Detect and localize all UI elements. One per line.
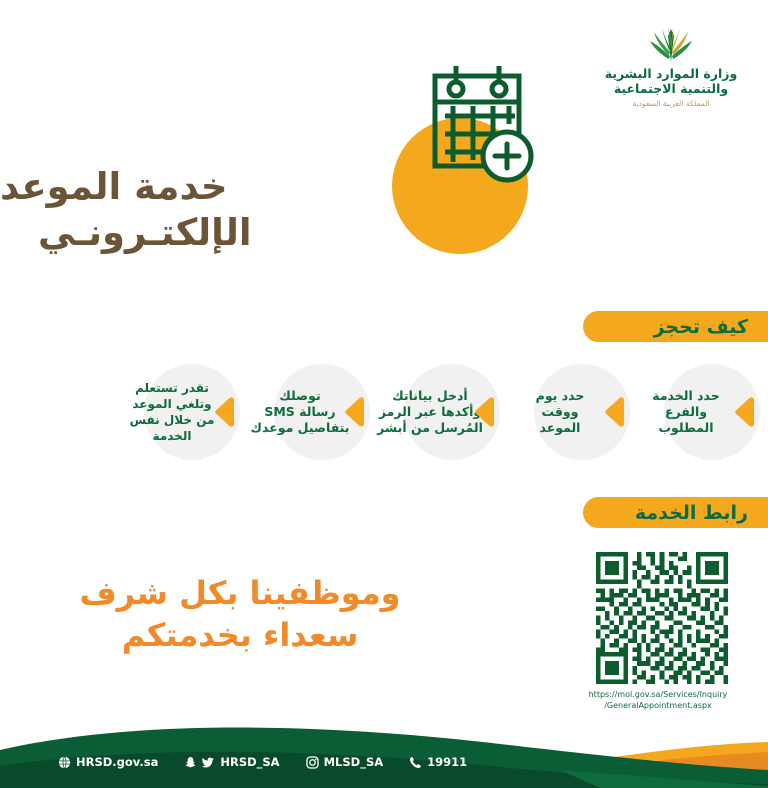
step-label-line: المُرسل من أبشر <box>377 420 483 436</box>
palm-tree-swords-icon <box>643 24 699 62</box>
chevron-left-icon <box>214 397 236 427</box>
step-label: حدد الخدمة والفرع المطلوب <box>652 388 720 436</box>
footer-contact-bar: HRSD.gov.sa HRSD_SA <box>0 750 768 774</box>
step-label-line: وتلغي الموعد <box>130 396 215 412</box>
step-item: حدد يوم ووقت الموعد <box>534 364 630 460</box>
logo-line-1: وزارة الموارد البشرية <box>596 66 746 81</box>
step-label-line: حدد يوم <box>536 388 585 404</box>
step-bubble: أدخل بياناتك وأكدها عبر الرمز المُرسل من… <box>404 364 500 460</box>
footer-item-social-hrsd[interactable]: HRSD_SA <box>184 755 279 769</box>
banner-service-link-label: رابط الخدمة <box>635 502 748 524</box>
banner-how-to-book: كيف تحجز <box>583 311 768 342</box>
twitter-icon <box>201 756 215 769</box>
footer-phone-label: 19911 <box>427 755 467 769</box>
logo-line-2: والتنمية الاجتماعية <box>596 81 746 96</box>
slogan-line-1: وموظفينا بكل شرف <box>79 574 400 612</box>
ministry-logo: وزارة الموارد البشرية والتنمية الاجتماعي… <box>596 24 746 109</box>
step-label-line: الموعد <box>536 420 585 436</box>
slogan-line-2: سعداء بخدمتكم <box>0 614 480 656</box>
step-bubble: حدد الخدمة والفرع المطلوب <box>664 364 760 460</box>
page-title: خدمة الموعد الإلكتـرونـي <box>0 164 470 256</box>
step-label-line: رسالة SMS <box>251 404 350 420</box>
step-bubble: حدد يوم ووقت الموعد <box>534 364 630 460</box>
step-label: حدد يوم ووقت الموعد <box>536 388 585 436</box>
step-label-line: حدد الخدمة <box>652 388 720 404</box>
logo-kingdom-text: المملكة العربية السعودية <box>596 98 746 109</box>
page-title-line-2: الإلكتـرونـي <box>0 210 470 256</box>
poster-root: وزارة الموارد البشرية والتنمية الاجتماعي… <box>0 0 768 788</box>
phone-icon <box>409 756 422 769</box>
steps-flow: حدد الخدمة والفرع المطلوب حدد يوم ووقت ا… <box>0 360 768 464</box>
step-item: تقدر تستعلم وتلغي الموعد من خلال نفس الخ… <box>144 364 240 460</box>
step-item: توصلك رسالة SMS بتفاصيل موعدك <box>274 364 370 460</box>
footer-social-hrsd-label: HRSD_SA <box>220 755 279 769</box>
step-label-line: المطلوب <box>652 420 720 436</box>
qr-section: https://mol.gov.sa/Services/Inquiry /Gen… <box>584 552 732 711</box>
chevron-left-icon <box>344 397 366 427</box>
qr-url-line-1: https://mol.gov.sa/Services/Inquiry <box>589 690 728 699</box>
footer-item-phone[interactable]: 19911 <box>409 755 467 769</box>
step-label: تقدر تستعلم وتلغي الموعد من خلال نفس الخ… <box>130 380 215 444</box>
banner-how-to-book-label: كيف تحجز <box>654 316 748 338</box>
step-item: حدد الخدمة والفرع المطلوب <box>664 364 760 460</box>
step-item: أدخل بياناتك وأكدها عبر الرمز المُرسل من… <box>404 364 500 460</box>
footer-item-instagram[interactable]: MLSD_SA <box>306 755 384 769</box>
instagram-icon <box>306 756 319 769</box>
step-label-line: بتفاصيل موعدك <box>251 420 350 436</box>
slogan: وموظفينا بكل شرف سعداء بخدمتكم <box>0 572 480 656</box>
page-title-line-1: خدمة الموعد <box>0 165 228 208</box>
footer-wave-graphic <box>0 708 768 788</box>
chevron-left-icon <box>474 397 496 427</box>
step-label-line: وأكدها عبر الرمز <box>377 404 483 420</box>
step-label: أدخل بياناتك وأكدها عبر الرمز المُرسل من… <box>377 388 483 436</box>
snapchat-icon <box>184 756 197 769</box>
step-bubble: تقدر تستعلم وتلغي الموعد من خلال نفس الخ… <box>144 364 240 460</box>
step-label-line: توصلك <box>251 388 350 404</box>
footer-website-label: HRSD.gov.sa <box>76 755 158 769</box>
step-bubble: توصلك رسالة SMS بتفاصيل موعدك <box>274 364 370 460</box>
step-label-line: تقدر تستعلم <box>130 380 215 396</box>
chevron-left-icon <box>734 397 756 427</box>
step-label-line: والفرع <box>652 404 720 420</box>
step-label: توصلك رسالة SMS بتفاصيل موعدك <box>251 388 350 436</box>
chevron-left-icon <box>604 397 626 427</box>
qr-code-icon[interactable] <box>592 552 732 684</box>
footer-instagram-label: MLSD_SA <box>324 755 384 769</box>
step-label-line: ووقت <box>536 404 585 420</box>
banner-service-link: رابط الخدمة <box>583 497 768 528</box>
step-label-line: الخدمة <box>130 428 215 444</box>
footer-item-website[interactable]: HRSD.gov.sa <box>58 755 158 769</box>
globe-icon <box>58 756 71 769</box>
step-label-line: أدخل بياناتك <box>377 388 483 404</box>
step-label-line: من خلال نفس <box>130 412 215 428</box>
